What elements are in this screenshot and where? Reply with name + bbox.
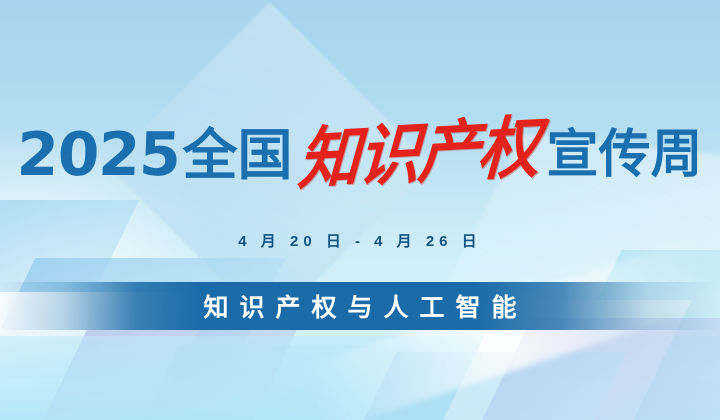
ip-week-banner: 2025 全国 知识产权 宣传周 4 月 20 日 - 4 月 26 日 知识产… bbox=[0, 0, 720, 420]
banner-headline: 2025 全国 知识产权 宣传周 bbox=[0, 124, 720, 186]
banner-subtitle: 知识产权与人工智能 bbox=[0, 282, 720, 330]
banner-content: 2025 全国 知识产权 宣传周 4 月 20 日 - 4 月 26 日 知识产… bbox=[0, 0, 720, 420]
headline-event: 宣传周 bbox=[547, 129, 703, 181]
headline-scope: 全国 bbox=[182, 128, 292, 183]
headline-year: 2025 bbox=[16, 125, 181, 185]
headline-highlight-calligraphy: 知识产权 bbox=[297, 115, 540, 195]
banner-date-range: 4 月 20 日 - 4 月 26 日 bbox=[0, 230, 720, 251]
